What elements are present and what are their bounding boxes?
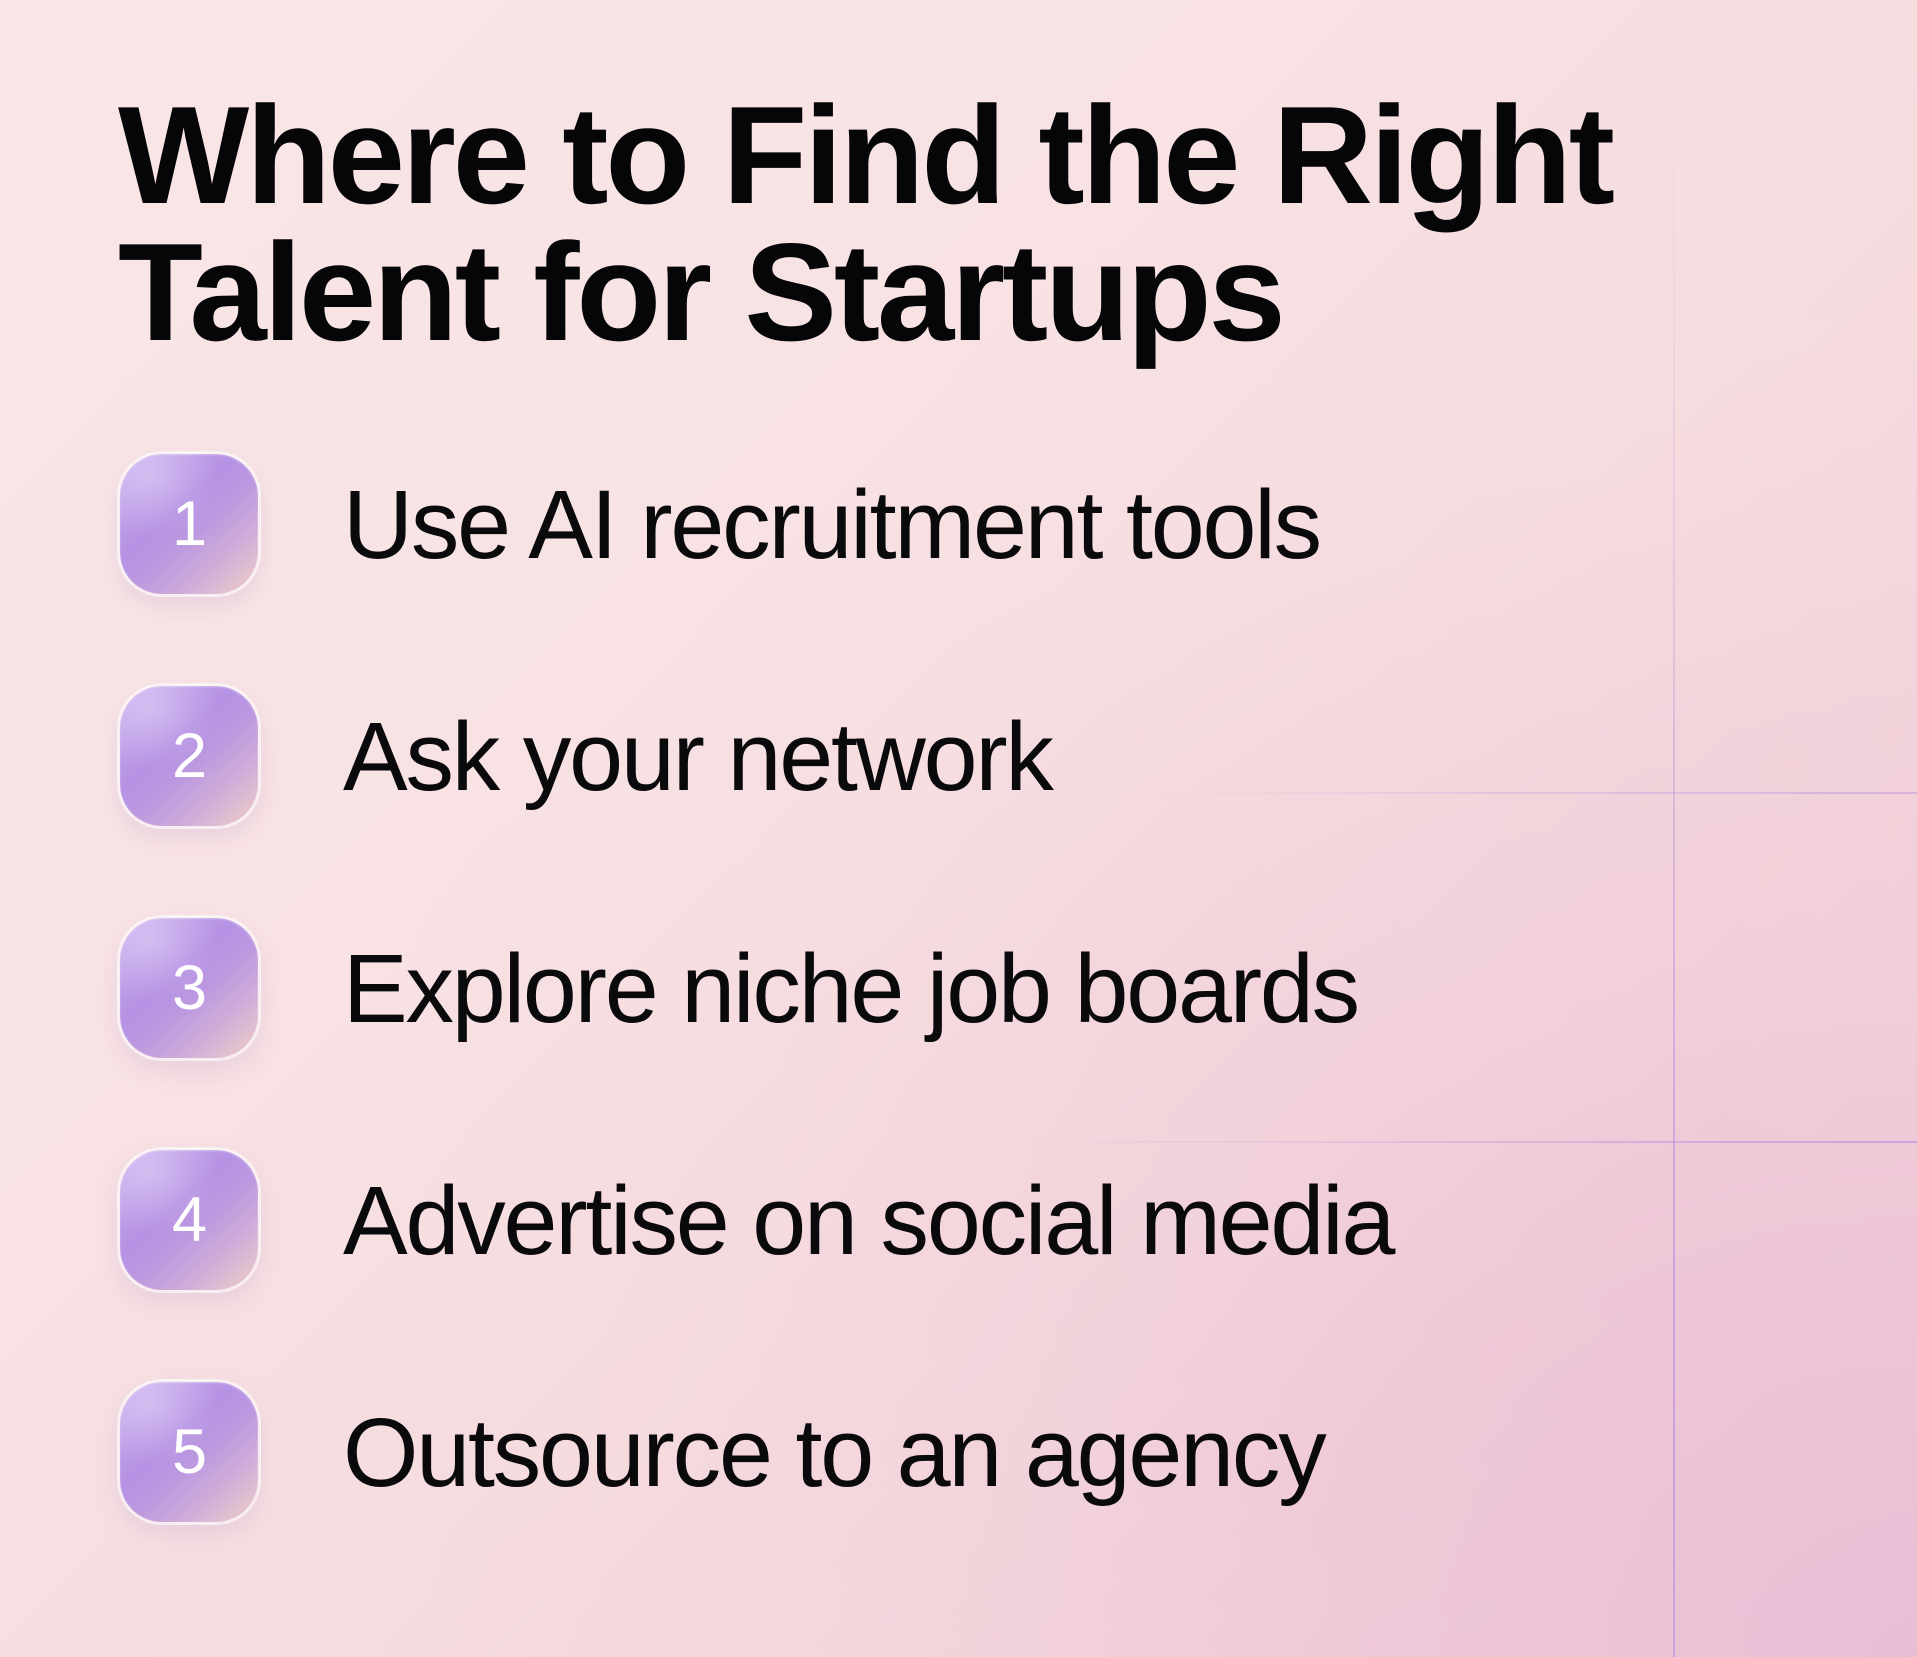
steps-list: 1 Use AI recruitment tools 2 Ask your ne…: [0, 454, 1917, 1522]
infographic-canvas: Where to Find the Right Talent for Start…: [0, 0, 1917, 1657]
step-number: 4: [172, 1189, 206, 1252]
step-label: Use AI recruitment tools: [343, 476, 1320, 573]
step-label: Ask your network: [343, 708, 1052, 805]
step-label: Advertise on social media: [343, 1172, 1393, 1269]
step-badge-2: 2: [120, 686, 258, 826]
page-title: Where to Find the Right Talent for Start…: [118, 88, 1678, 362]
step-label: Outsource to an agency: [343, 1404, 1325, 1501]
step-badge-4: 4: [120, 1150, 258, 1290]
step-number: 1: [172, 493, 206, 556]
step-badge-3: 3: [120, 918, 258, 1058]
step-number: 5: [172, 1421, 206, 1484]
list-item: 3 Explore niche job boards: [0, 918, 1917, 1058]
step-badge-5: 5: [120, 1382, 258, 1522]
step-label: Explore niche job boards: [343, 940, 1358, 1037]
step-badge-1: 1: [120, 454, 258, 594]
list-item: 4 Advertise on social media: [0, 1150, 1917, 1290]
list-item: 1 Use AI recruitment tools: [0, 454, 1917, 594]
list-item: 2 Ask your network: [0, 686, 1917, 826]
list-item: 5 Outsource to an agency: [0, 1382, 1917, 1522]
step-number: 2: [172, 725, 206, 788]
step-number: 3: [172, 957, 206, 1020]
